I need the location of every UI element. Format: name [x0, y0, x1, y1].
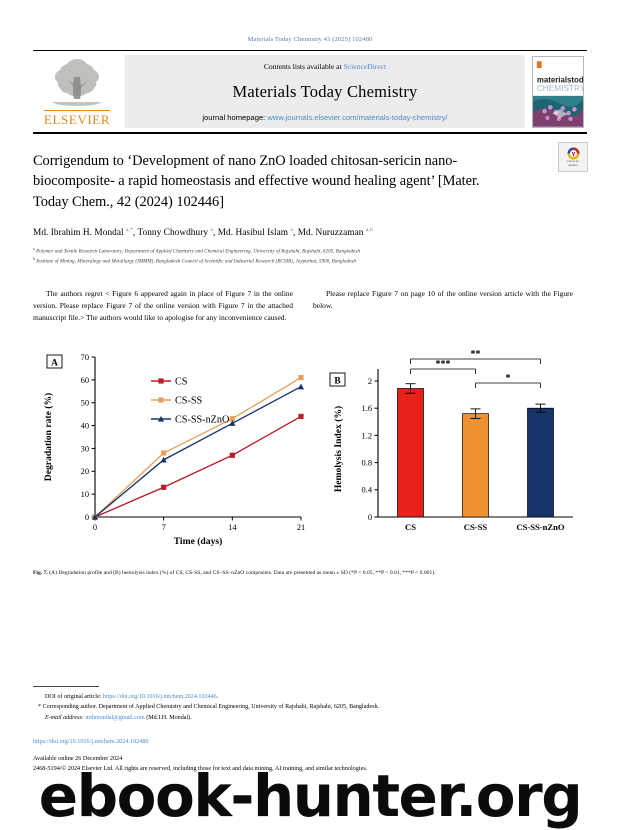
- journal-banner: Contents lists available at ScienceDirec…: [125, 55, 525, 128]
- panel-b-x-tick-label-CS-SS-nZnO: CS-SS-nZnO: [516, 522, 565, 532]
- panel-b-significance-1: *: [476, 373, 541, 388]
- figure-caption: Fig. 7. (A) Degradation profile and (B) …: [33, 569, 587, 579]
- corrigendum-body: The authors regret < Figure 6 appeared a…: [33, 288, 587, 323]
- panel-b-x-tick-label-CS: CS: [405, 522, 416, 532]
- panel-a-marker-CS-SS-nZnO: [161, 457, 167, 463]
- replace-figure-paragraph: Please replace Figure 7 on page 10 of th…: [313, 288, 573, 311]
- svg-text:B: B: [334, 377, 340, 387]
- journal-homepage-label: journal homepage:: [202, 113, 265, 122]
- panel-a-y-tick-label: 50: [81, 399, 89, 408]
- article-doi[interactable]: https://doi.org/10.1016/j.mtchem.2024.10…: [33, 738, 149, 745]
- article-doi-text: https://doi.org/10.1016/j.mtchem.2024.10…: [33, 738, 149, 745]
- panel-a-legend-label-CS-SS-nZnO: CS-SS-nZnO: [175, 415, 229, 426]
- footnote-email: E-mail address: mihmondal@gmail.com (Md.…: [33, 713, 587, 723]
- email-label: E-mail address:: [45, 715, 84, 721]
- panel-b-y-axis-label: Hemolysis Index (%): [333, 406, 344, 492]
- affiliation-b-marker: b: [33, 256, 35, 261]
- article-header: Check for updates Corrigendum to ‘Develo…: [33, 151, 587, 266]
- page-title: Corrigendum to ‘Development of nano ZnO …: [33, 151, 501, 212]
- sciencedirect-link[interactable]: ScienceDirect: [344, 62, 387, 71]
- panel-a-legend-label-CS: CS: [175, 377, 188, 388]
- affiliation-a-marker: a: [33, 246, 35, 251]
- panel-a-marker-CS-SS-nZnO: [298, 384, 304, 390]
- affiliation-a-text: Polymer and Textile Research Laboratory,…: [36, 249, 360, 255]
- panel-a-marker-CS: [230, 453, 235, 458]
- affiliation-b: b Institute of Mining, Mineralogy and Me…: [33, 256, 587, 266]
- figure-7: 010203040506070071421Degradation rate (%…: [33, 345, 587, 557]
- panel-b-x-tick-label-CS-SS: CS-SS: [464, 522, 488, 532]
- journal-cover-thumbnail: materialstoday CHEMISTRY: [532, 56, 584, 128]
- panel-b-tag: B: [330, 373, 345, 386]
- panel-a-y-tick-label: 10: [81, 490, 89, 499]
- footnote-original-doi: DOI of original article: https://doi.org…: [33, 692, 587, 702]
- footnote-original-doi-label: DOI of original article:: [45, 694, 101, 700]
- figure-svg: 010203040506070071421Degradation rate (%…: [33, 345, 587, 557]
- panel-a-x-tick-label: 14: [228, 523, 237, 532]
- svg-text:A: A: [51, 359, 58, 369]
- svg-text:CHEMISTRY: CHEMISTRY: [537, 84, 583, 93]
- panel-a-x-axis-label: Time (days): [174, 536, 223, 547]
- panel-b-y-tick-label: 0.8: [362, 459, 372, 468]
- panel-b-significance-2: **: [411, 349, 541, 364]
- panel-b-y-tick-label: 0: [368, 513, 372, 522]
- svg-text:*: *: [506, 373, 511, 384]
- footnote-rule: [33, 686, 99, 687]
- panel-a-series-line-CS: [95, 417, 301, 518]
- panel-a-y-tick-label: 30: [81, 445, 89, 454]
- panel-b-bar-CS-SS-nZnO: [528, 408, 554, 517]
- panel-b-y-tick-label: 2: [368, 377, 372, 386]
- panel-a-y-tick-label: 0: [85, 513, 89, 522]
- email-link[interactable]: mihmondal@gmail.com: [85, 715, 144, 721]
- panel-a-x-tick-label: 7: [162, 523, 166, 532]
- footnote-corresponding-author: * Corresponding author. Department of Ap…: [33, 702, 587, 712]
- panel-a-y-tick-label: 40: [81, 422, 89, 431]
- panel-b-y-tick-label: 1.2: [362, 432, 372, 441]
- panel-a-y-axis-label: Degradation rate (%): [43, 393, 54, 481]
- affiliation-a: a Polymer and Textile Research Laborator…: [33, 246, 587, 256]
- svg-text:***: ***: [436, 359, 451, 370]
- affiliation-list: a Polymer and Textile Research Laborator…: [33, 246, 587, 266]
- elsevier-wordmark: ELSEVIER: [44, 110, 110, 128]
- panel-a-y-tick-label: 70: [81, 353, 89, 362]
- panel-b-bar-CS-SS: [463, 414, 489, 517]
- elsevier-logo: ELSEVIER: [33, 55, 121, 128]
- journal-masthead: ELSEVIER Contents lists available at Sci…: [33, 50, 587, 134]
- svg-text:materialstoday: materialstoday: [537, 75, 583, 84]
- site-watermark: ebook-hunter.org: [0, 767, 620, 825]
- panel-a-marker-CS-SS: [161, 451, 166, 456]
- panel-a-y-tick-label: 20: [81, 467, 89, 476]
- figure-caption-text: (A) Degradation profile and (B) hemolysi…: [49, 570, 435, 576]
- journal-homepage-link[interactable]: www.journals.elsevier.com/materials-toda…: [267, 113, 447, 122]
- corresponding-text: Corresponding author. Department of Appl…: [43, 704, 379, 710]
- figure-canvas: 010203040506070071421Degradation rate (%…: [33, 345, 587, 557]
- contents-lists-text: Contents lists available at: [264, 62, 342, 71]
- footnote-block: DOI of original article: https://doi.org…: [33, 686, 587, 723]
- crossmark-label: Check for updates: [567, 160, 580, 167]
- affiliation-b-text: Institute of Mining, Mineralogy and Meta…: [36, 259, 356, 265]
- contents-lists-line: Contents lists available at ScienceDirec…: [264, 62, 386, 71]
- panel-b-bar-CS: [398, 389, 424, 518]
- crossmark-line2: updates: [568, 163, 578, 167]
- svg-text:**: **: [471, 349, 481, 360]
- journal-homepage-line: journal homepage: www.journals.elsevier.…: [202, 113, 447, 122]
- cover-artwork-icon: materialstoday CHEMISTRY: [533, 57, 583, 127]
- panel-a-marker-CS: [298, 414, 303, 419]
- body-column-right: Please replace Figure 7 on page 10 of th…: [313, 288, 573, 323]
- body-column-left: The authors regret < Figure 6 appeared a…: [33, 288, 293, 323]
- panel-a-x-tick-label: 0: [93, 523, 97, 532]
- panel-b-y-tick-label: 0.4: [362, 486, 373, 495]
- panel-a-tag: A: [47, 355, 62, 368]
- panel-a-marker-CS: [161, 485, 166, 490]
- author-list: Md. Ibrahim H. Mondal a,*, Tonny Chowdhu…: [33, 227, 587, 238]
- figure-caption-label: Fig. 7.: [33, 570, 48, 576]
- journal-cover: materialstoday CHEMISTRY: [529, 55, 587, 128]
- panel-a-x-tick-label: 21: [297, 523, 305, 532]
- panel-a-marker-CS-SS: [298, 375, 303, 380]
- journal-title: Materials Today Chemistry: [232, 82, 417, 102]
- panel-b-y-tick-label: 1.6: [362, 404, 372, 413]
- crossmark-badge[interactable]: Check for updates: [558, 142, 588, 172]
- email-owner: (Md.I.H. Mondal).: [146, 715, 192, 721]
- elsevier-tree-icon: [46, 55, 108, 109]
- panel-a-legend-label-CS-SS: CS-SS: [175, 396, 203, 407]
- panel-a-y-tick-label: 60: [81, 376, 89, 385]
- panel-a-legend-marker-CS: [158, 379, 163, 384]
- footnote-doi-period: .: [217, 694, 219, 700]
- panel-b-significance-3: ***: [411, 359, 476, 374]
- running-head: Materials Today Chemistry 43 (2025) 1024…: [0, 0, 620, 43]
- corresponding-marker: *: [38, 704, 41, 710]
- footnote-original-doi-link[interactable]: https://doi.org/10.1016/j.mtchem.2024.10…: [103, 694, 217, 700]
- authors-regret-paragraph: The authors regret < Figure 6 appeared a…: [33, 288, 293, 323]
- panel-a-legend-marker-CS-SS: [158, 398, 163, 403]
